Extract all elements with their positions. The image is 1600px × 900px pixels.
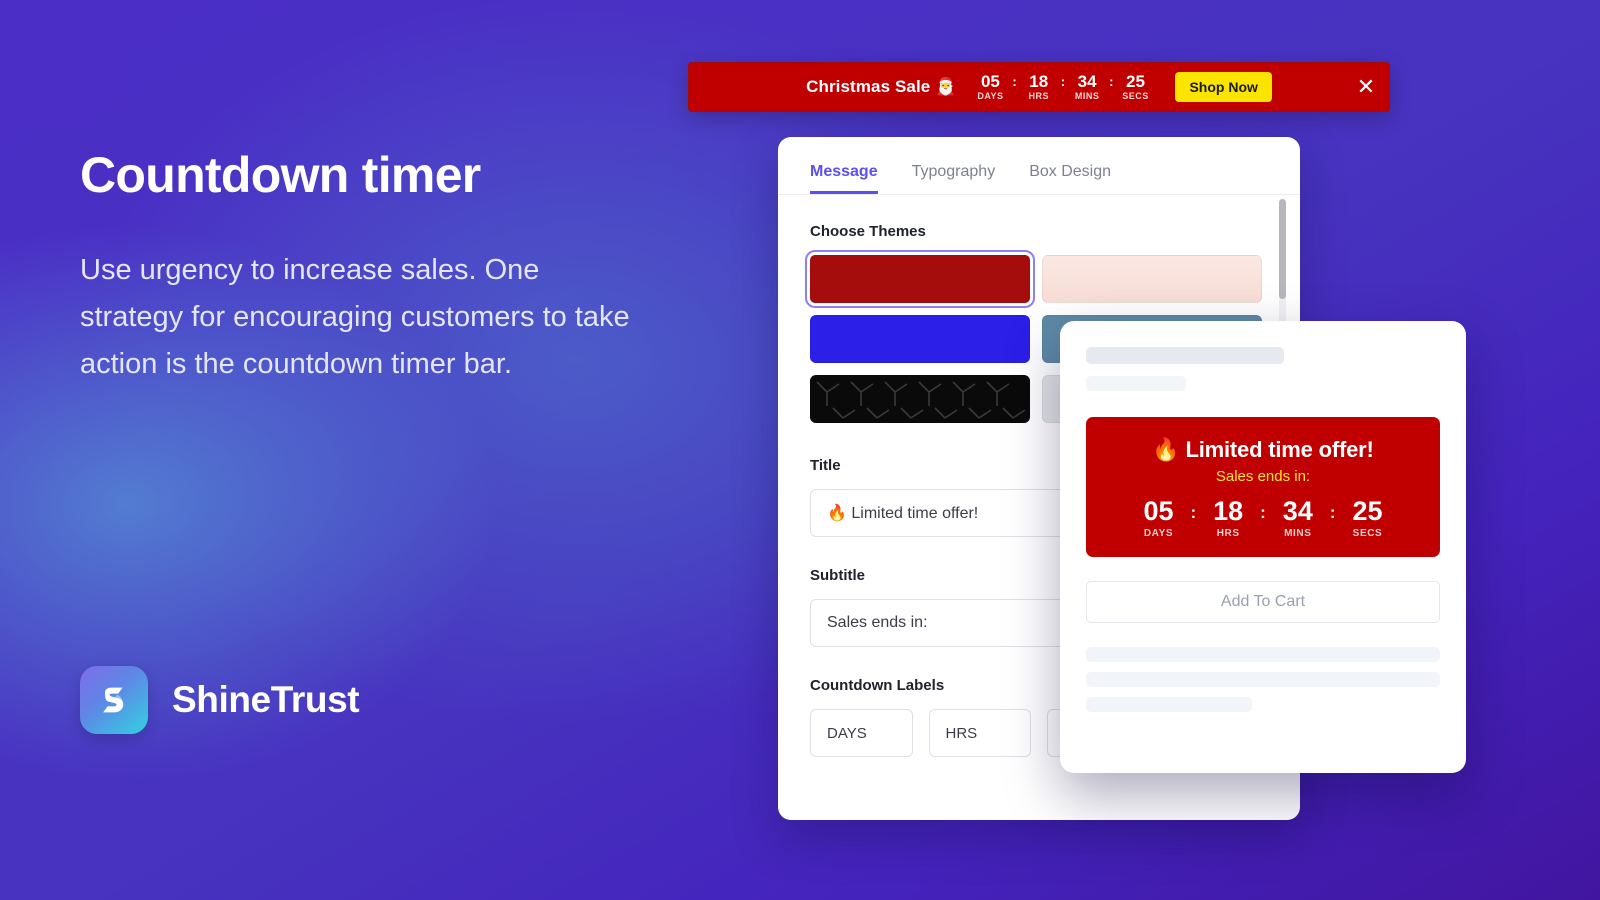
- shinetrust-logo-icon: [80, 666, 148, 734]
- countdown-bar-timer: 05 DAYS : 18 HRS : 34 MINS : 25 SECS: [970, 73, 1155, 102]
- skeleton-line: [1086, 672, 1440, 687]
- preview-mins-value: 34: [1283, 497, 1313, 525]
- page-title: Countdown timer: [80, 148, 680, 203]
- hero-description: Use urgency to increase sales. One strat…: [80, 247, 650, 388]
- secs-label: SECS: [1122, 91, 1149, 101]
- tab-typography[interactable]: Typography: [912, 163, 996, 194]
- brand-lockup: ShineTrust: [80, 666, 359, 734]
- scrollbar-thumb[interactable]: [1279, 199, 1286, 299]
- countdown-unit-mins: 34 MINS: [1067, 73, 1107, 102]
- days-label: DAYS: [977, 91, 1003, 101]
- preview-countdown-banner: 🔥 Limited time offer! Sales ends in: 05 …: [1086, 417, 1440, 557]
- preview-secs-label: SECS: [1353, 528, 1383, 539]
- shop-now-button[interactable]: Shop Now: [1175, 72, 1271, 102]
- preview-unit-days: 05 DAYS: [1130, 497, 1186, 539]
- add-to-cart-button[interactable]: Add To Cart: [1086, 581, 1440, 623]
- skeleton-line: [1086, 697, 1252, 712]
- storefront-preview-card: 🔥 Limited time offer! Sales ends in: 05 …: [1060, 321, 1466, 773]
- countdown-unit-days: 05 DAYS: [970, 73, 1010, 102]
- countdown-bar-preview: Christmas Sale 🎅 05 DAYS : 18 HRS : 34 M…: [688, 62, 1390, 112]
- preview-unit-secs: 25 SECS: [1340, 497, 1396, 539]
- theme-swatch-dark-red[interactable]: [810, 255, 1030, 303]
- close-icon[interactable]: ✕: [1343, 76, 1389, 98]
- secs-value: 25: [1126, 73, 1145, 91]
- theme-swatch-electric-blue[interactable]: [810, 315, 1030, 363]
- tab-message[interactable]: Message: [810, 163, 878, 194]
- separator-icon: :: [1260, 497, 1266, 523]
- preview-hrs-label: HRS: [1217, 528, 1240, 539]
- separator-icon: :: [1190, 497, 1196, 523]
- countdown-label-days-input[interactable]: DAYS: [810, 709, 913, 757]
- separator-icon: :: [1330, 497, 1336, 523]
- preview-secs-value: 25: [1352, 497, 1382, 525]
- preview-days-label: DAYS: [1144, 528, 1173, 539]
- separator-icon: :: [1109, 74, 1113, 100]
- mins-label: MINS: [1075, 91, 1100, 101]
- preview-unit-mins: 34 MINS: [1270, 497, 1326, 539]
- days-value: 05: [981, 73, 1000, 91]
- preview-banner-title: 🔥 Limited time offer!: [1104, 437, 1422, 463]
- preview-days-value: 05: [1143, 497, 1173, 525]
- countdown-unit-hrs: 18 HRS: [1019, 73, 1059, 102]
- countdown-bar-title: Christmas Sale 🎅: [806, 77, 956, 97]
- separator-icon: :: [1061, 74, 1065, 100]
- hero-copy: Countdown timer Use urgency to increase …: [80, 148, 680, 388]
- tab-bar: Message Typography Box Design: [778, 137, 1300, 195]
- hrs-label: HRS: [1029, 91, 1050, 101]
- preview-banner-subtitle: Sales ends in:: [1104, 468, 1422, 485]
- countdown-unit-secs: 25 SECS: [1115, 73, 1155, 102]
- mins-value: 34: [1078, 73, 1097, 91]
- theme-swatch-blush-gradient[interactable]: [1042, 255, 1262, 303]
- preview-skeleton-footer: [1086, 647, 1440, 712]
- skeleton-heading: [1086, 347, 1284, 364]
- hrs-value: 18: [1029, 73, 1048, 91]
- promo-banner-stage: Countdown timer Use urgency to increase …: [0, 0, 1600, 900]
- skeleton-line: [1086, 647, 1440, 662]
- theme-swatch-black-pattern[interactable]: [810, 375, 1030, 423]
- tab-box-design[interactable]: Box Design: [1029, 163, 1111, 194]
- brand-name: ShineTrust: [172, 679, 359, 721]
- countdown-label-hrs-input[interactable]: HRS: [929, 709, 1032, 757]
- preview-hrs-value: 18: [1213, 497, 1243, 525]
- preview-unit-hrs: 18 HRS: [1200, 497, 1256, 539]
- preview-mins-label: MINS: [1284, 528, 1311, 539]
- preview-countdown-timer: 05 DAYS : 18 HRS : 34 MINS : 25 SECS: [1104, 497, 1422, 539]
- choose-themes-label: Choose Themes: [810, 223, 1268, 240]
- separator-icon: :: [1012, 74, 1016, 100]
- skeleton-subheading: [1086, 376, 1186, 391]
- countdown-bar-content: Christmas Sale 🎅 05 DAYS : 18 HRS : 34 M…: [689, 72, 1343, 102]
